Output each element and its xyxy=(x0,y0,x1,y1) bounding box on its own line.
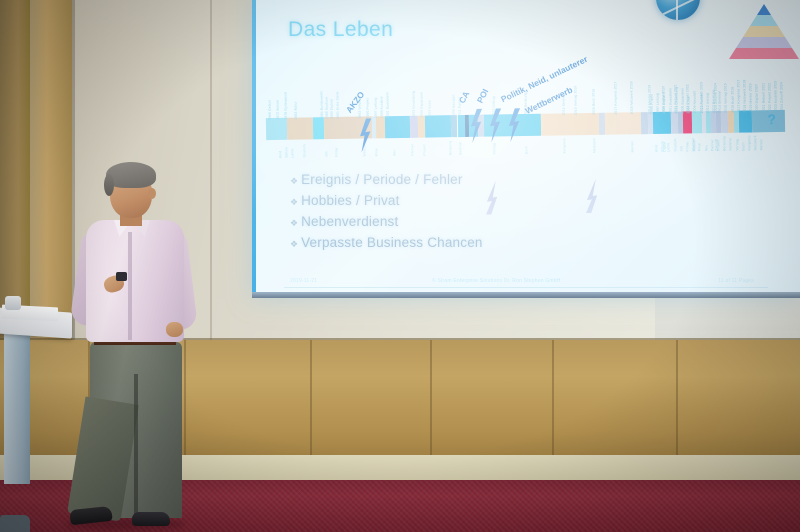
bullet-marker-icon: ❖ xyxy=(290,239,298,250)
timeline-tick-label: 2019 Mentor 2019 xyxy=(749,83,753,112)
lightning-bolt-icon-pale xyxy=(485,180,500,214)
timeline-tick-label-below: Mentor xyxy=(760,139,764,150)
timeline-tick-label-below: Neu xyxy=(704,145,708,152)
timeline-tick-label: 2016 Buch 2016 xyxy=(730,87,734,113)
timeline-tick-label: 2022 Projekt 2022 xyxy=(767,83,771,112)
timeline-tick-label-below: Vortrag xyxy=(735,139,739,151)
wall-wood-edge xyxy=(0,0,30,340)
timeline-tick-label: 2007 Krise xyxy=(687,96,691,113)
screen-left-border xyxy=(252,0,256,298)
timeline-tick-label: 2021 Reboot 2021 xyxy=(761,83,765,113)
presenter-right-hand xyxy=(166,322,183,337)
timeline-tick-label: 2014 Seminar xyxy=(718,91,722,113)
timeline-tick-label: 2001 Rueckkehr xyxy=(385,92,389,118)
timeline-tick-label: 2018 Netzwerk 2018 xyxy=(629,81,634,114)
timeline-tick-label: 2011 Partner xyxy=(699,93,703,114)
slide-bullet-list: ❖Ereignis / Periode / Fehler❖Hobbies / P… xyxy=(290,172,483,256)
timeline-tick-label-below: Beratung xyxy=(722,136,726,151)
timeline-segment xyxy=(425,115,451,137)
timeline-tick-label-below: Firma xyxy=(685,142,689,151)
timeline-segment xyxy=(376,116,386,138)
pyramid-layer xyxy=(729,37,799,48)
timeline-tick-label-below: Buch xyxy=(524,146,528,154)
bullet-item: ❖Nebenverdienst xyxy=(290,214,483,229)
bullet-item: ❖Ereignis / Periode / Fehler xyxy=(290,172,483,187)
timeline-tick-label: 1985 Studium xyxy=(325,97,329,119)
timeline-tick-label: 1972 Schule xyxy=(276,100,280,120)
timeline-tick-label: 2012 Umzug xyxy=(705,93,709,113)
pyramid-logo xyxy=(729,4,799,60)
timeline-tick-label: 2016 Buch 2016 xyxy=(591,89,595,115)
timeline-tick-label: 1995 Projekt xyxy=(366,98,370,118)
timeline-segment xyxy=(266,118,288,140)
timeline-tick-label: 2015 Vortrag 2015 xyxy=(573,86,577,116)
timeline-tick-label-below: Lehre xyxy=(667,143,671,152)
timeline-tick-label: 2020 Digital 2020 xyxy=(755,84,759,112)
timeline-tick-label: 2023 Ausblick 2023 xyxy=(773,81,777,112)
timeline-segment xyxy=(653,112,672,134)
timeline-tick-label-below: Kind xyxy=(278,151,282,158)
bolt-label: AKZO xyxy=(344,89,367,114)
pyramid-layer xyxy=(729,26,799,37)
timeline-tick-label: 1999 Ausland xyxy=(380,96,384,118)
timeline-tick-label-below: Vortrag xyxy=(492,143,496,155)
timeline-tick-label: 2003 Gruendung xyxy=(411,91,415,118)
timeline-tick-label-below: Job xyxy=(679,146,683,152)
timeline-tick-label-below: Krise xyxy=(374,148,378,156)
presenter-leg-seam xyxy=(134,374,138,520)
bullet-text: Ereignis / Periode / Fehler xyxy=(301,172,462,187)
timeline-tick-label: 2003 Gruendung xyxy=(674,87,678,114)
timeline-tick-label-below: Krise xyxy=(698,143,702,151)
timeline-segment xyxy=(739,110,752,132)
timeline-tick-label-below: Kongress xyxy=(562,138,566,153)
bullet-item: ❖Verpasste Business Chancen xyxy=(290,235,483,250)
presenter-ear xyxy=(148,188,156,199)
timeline-segment xyxy=(313,117,324,139)
object-on-podium xyxy=(5,296,21,310)
timeline-tick-label: 2015 Vortrag 2015 xyxy=(724,83,728,113)
chair-edge xyxy=(0,515,30,532)
timeline-tick-label-below: Wechsel xyxy=(691,138,695,152)
presentation-clicker xyxy=(116,272,127,281)
timeline-tick-label-below: Firma xyxy=(334,148,338,157)
bullet-marker-icon: ❖ xyxy=(290,197,298,208)
timeline-tick-label-below: Projekt xyxy=(716,140,720,151)
timeline-segment xyxy=(385,116,410,138)
bullet-marker-icon: ❖ xyxy=(290,176,298,187)
timeline-segment xyxy=(287,117,313,139)
presenter-hair-side xyxy=(104,174,114,196)
pyramid-layer xyxy=(729,48,799,59)
pyramid-layer xyxy=(729,15,799,26)
projection-screen: Das Leben 1966 Geburt1972 Schule1978 Gym… xyxy=(252,0,800,298)
timeline-tick-label-below: Schule xyxy=(284,147,288,158)
lightning-bolt-icon-pale xyxy=(585,179,600,213)
bullet-marker-icon: ❖ xyxy=(290,218,298,229)
company-globe-logo xyxy=(656,0,700,20)
timeline-future-question-mark: ? xyxy=(767,111,776,127)
timeline-tick-label: 1991 Erste Stelle xyxy=(335,91,339,119)
presenter xyxy=(62,160,232,532)
timeline-tick-label-below: Kongress xyxy=(747,135,751,150)
bullet-text: Nebenverdienst xyxy=(301,214,398,229)
slide-title: Das Leben xyxy=(288,18,393,42)
timeline-tick-label-below: Kind xyxy=(654,145,658,152)
timeline-tick-label: 1997 Leitung xyxy=(656,93,660,114)
timeline-segment xyxy=(541,113,600,136)
footer-copyright: © Stram Enterprise Solutions Dr. Ron Ste… xyxy=(432,278,561,284)
timeline-tick-label-below: Buch xyxy=(741,142,745,150)
timeline-tick-label: 2024 Zukunft 2024 xyxy=(780,82,784,112)
timeline-tick-label-below: Lehre xyxy=(290,148,294,157)
footer-date: 2019-11-21 xyxy=(290,278,317,284)
timeline-tick-label-below: Seminar xyxy=(729,137,733,150)
timeline-tick-label-below: Beratung xyxy=(448,141,452,156)
timeline-segment xyxy=(605,112,641,135)
timeline-segment xyxy=(692,111,702,133)
timeline-tick-label: 2007 Krise xyxy=(428,100,432,117)
bullet-text: Hobbies / Privat xyxy=(301,193,400,208)
timeline-tick-label: 1966 Geburt xyxy=(268,100,272,120)
timeline-tick-label: 2017 Kongress 2017 xyxy=(613,81,618,114)
lecture-room-photo: Das Leben 1966 Geburt1972 Schule1978 Gym… xyxy=(0,0,800,532)
timeline-tick-label: 1990 Diplom xyxy=(330,99,334,119)
timeline-tick-label-below: Partner xyxy=(410,144,414,156)
timeline-tick-label: 1997 Leitung xyxy=(374,98,378,119)
timeline-tick-label-below: Job xyxy=(324,151,328,157)
bolt-label: POI xyxy=(475,87,491,105)
timeline-tick-label-below: Schule xyxy=(660,141,664,152)
timeline-tick-label: 2005 Expansion xyxy=(419,92,423,118)
footer-rule xyxy=(284,287,768,288)
timeline-tick-label: 1995 Projekt xyxy=(650,94,654,114)
timeline-tick-label: 1984 Bundeswehr xyxy=(319,90,323,119)
timeline-tick-label-below: Mentor xyxy=(630,141,634,152)
timeline-tick-label: 2005 Expansion xyxy=(680,88,684,114)
presenter-shirt-placket xyxy=(128,232,132,340)
timeline-tick-label: 2017 Kongress 2017 xyxy=(736,80,741,113)
timeline-tick-label-below: Projekt xyxy=(422,144,426,155)
timeline-tick-label-below: Neu xyxy=(392,150,396,157)
timeline-tick-label-below: Studium xyxy=(673,138,677,151)
pyramid-layer xyxy=(729,4,799,15)
timeline-tick-label: 1978 Gymnasium xyxy=(283,92,287,120)
timeline-tick-label: 1999 Ausland xyxy=(662,92,666,114)
bullet-text: Verpasste Business Chancen xyxy=(301,235,483,250)
timeline-tick-label: 2009 Neustart xyxy=(693,91,697,114)
timeline-tick-label-below: Netzwerk xyxy=(753,135,757,150)
timeline-tick-label: 2001 Rueckkehr xyxy=(668,88,672,114)
timeline-tick-label-below: Netzwerk xyxy=(592,138,596,153)
footer-page-number: 11 of 11 Pages xyxy=(718,278,754,284)
timeline-tick-label: 1983 Abitur xyxy=(294,101,298,119)
timeline-tick-label-below: Partner xyxy=(710,139,714,151)
bullet-item: ❖Hobbies / Privat xyxy=(290,193,483,208)
timeline-tick-label-below: Studium xyxy=(302,144,306,157)
presenter-right-shoe xyxy=(132,512,170,526)
timeline-tick-label: 2013 Beratung xyxy=(711,89,715,113)
timeline-tick-label-below: Seminar xyxy=(458,142,462,155)
life-timeline-chart: 1966 Geburt1972 Schule1978 Gymnasium1983… xyxy=(266,110,786,140)
timeline-segment xyxy=(683,111,692,133)
podium-stand xyxy=(4,334,30,484)
timeline-tick-label: 2018 Netzwerk 2018 xyxy=(742,80,747,113)
screen-bottom-border xyxy=(252,292,800,298)
timeline-tick-label: 2009 Neustart xyxy=(452,94,456,117)
